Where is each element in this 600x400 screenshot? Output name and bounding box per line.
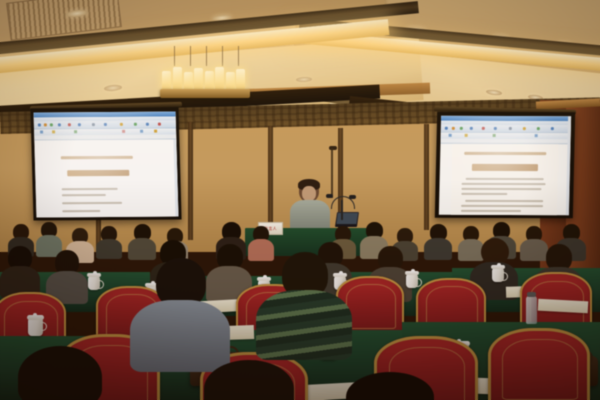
projection-screen-left <box>30 108 181 221</box>
audience-person <box>0 346 120 400</box>
doc-header-line <box>61 156 133 160</box>
chandelier-lamp-icon <box>215 67 224 91</box>
audience-person <box>96 226 122 256</box>
doc-body-line <box>465 200 543 202</box>
projection-surface-right <box>439 116 571 215</box>
doc-body-line <box>62 194 106 196</box>
audience-person <box>330 372 450 400</box>
audience-person <box>0 246 40 294</box>
chandelier-rod <box>206 46 207 66</box>
microphone-stem <box>341 200 343 220</box>
chandelier-rod <box>190 46 191 66</box>
microphone-head <box>349 195 356 199</box>
chandelier-lamp-icon <box>236 69 245 91</box>
chandelier <box>160 52 250 98</box>
chandelier-lamp-icon <box>194 68 203 91</box>
chandelier-rod <box>174 46 175 66</box>
doc-body-line <box>62 202 122 204</box>
chandelier-bar <box>160 89 250 98</box>
document-scrollbar[interactable] <box>173 140 178 218</box>
document-page-left <box>34 140 178 218</box>
audience-person <box>186 360 312 400</box>
chandelier-rod <box>238 46 239 66</box>
doc-body-line <box>461 210 521 212</box>
chandelier-rod <box>222 46 223 66</box>
wall-panel-divider <box>424 124 429 230</box>
doc-body-line <box>466 178 544 180</box>
audience-person <box>424 224 452 256</box>
audience-person <box>256 252 352 358</box>
doc-body-line <box>62 210 100 212</box>
chandelier-lamp-icon <box>205 71 214 91</box>
conference-room-photo: 发言人 <box>0 0 600 400</box>
document-page-right <box>451 144 559 215</box>
banquet-chair <box>488 328 590 400</box>
presenter-laptop <box>335 212 359 227</box>
microphone-head <box>326 194 333 198</box>
projector-cable <box>331 148 333 198</box>
chandelier-lamp-icon <box>173 67 182 91</box>
presenter <box>290 180 330 232</box>
audience-person <box>130 258 230 368</box>
app-toolbar-row2 <box>441 133 571 139</box>
presenter-face <box>302 186 316 201</box>
chandelier-lamp-icon <box>162 71 171 91</box>
teacup <box>28 318 43 336</box>
notepad-paper <box>538 299 589 314</box>
doc-body-line <box>461 188 541 190</box>
app-toolbar-row2 <box>34 129 176 136</box>
projection-screen-right <box>435 112 575 218</box>
doc-body-line <box>461 205 543 207</box>
doc-body-line <box>462 183 546 185</box>
projection-surface-left <box>34 112 179 218</box>
doc-body-line <box>62 188 118 190</box>
doc-header-line <box>464 152 546 155</box>
teacup <box>492 268 504 282</box>
doc-body-line <box>461 193 507 195</box>
doc-title-line <box>67 170 129 176</box>
wall-panel-divider <box>188 122 193 240</box>
water-bottle <box>526 296 537 324</box>
doc-title-line <box>472 164 538 171</box>
